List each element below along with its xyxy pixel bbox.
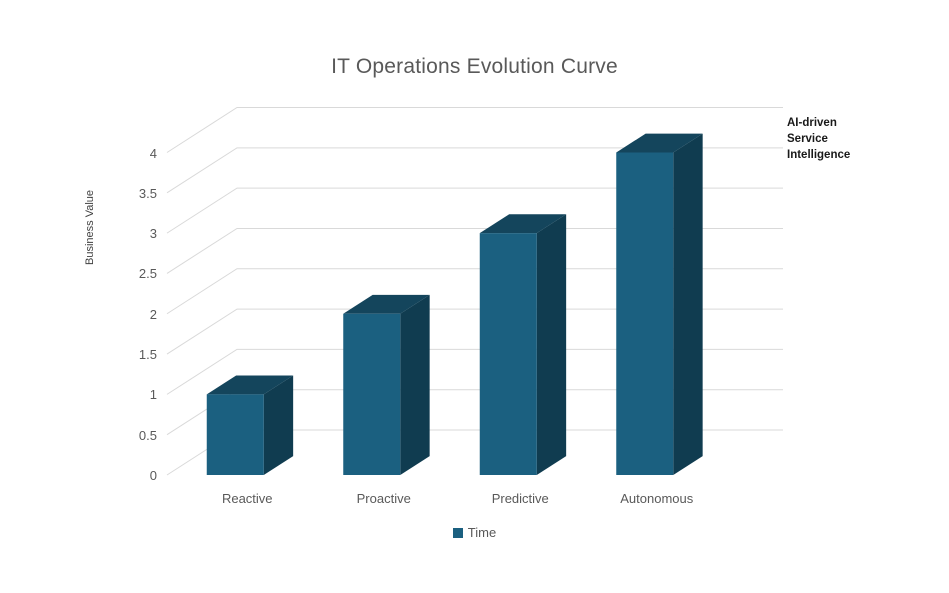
chart-container: IT Operations Evolution Curve Business V… bbox=[0, 0, 949, 593]
bar-front-face bbox=[616, 153, 673, 476]
y-axis-tick-label: 1 bbox=[109, 388, 157, 401]
y-axis-tick-label: 0 bbox=[109, 469, 157, 482]
legend-swatch-time bbox=[453, 528, 463, 538]
annotation-line-1: AI-driven bbox=[787, 115, 937, 131]
bar-front-face bbox=[207, 394, 264, 475]
bar-proactive[interactable] bbox=[343, 295, 429, 475]
legend-label-time: Time bbox=[468, 525, 496, 540]
bar-autonomous[interactable] bbox=[616, 134, 702, 475]
annotation-ai-driven-service-intelligence: AI-driven Service Intelligence bbox=[787, 115, 937, 163]
bar-side-face bbox=[673, 134, 702, 475]
bar-reactive[interactable] bbox=[207, 375, 293, 475]
bar-side-face bbox=[400, 295, 429, 475]
y-axis-tick-label: 0.5 bbox=[109, 429, 157, 442]
chart-title: IT Operations Evolution Curve bbox=[0, 55, 949, 79]
y-axis-tick-label: 2 bbox=[109, 308, 157, 321]
annotation-line-2: Service bbox=[787, 131, 937, 147]
x-axis-tick-label: Reactive bbox=[177, 492, 317, 505]
y-axis-title: Business Value bbox=[84, 241, 96, 265]
y-axis-tick-label: 2.5 bbox=[109, 267, 157, 280]
annotation-line-3: Intelligence bbox=[787, 147, 937, 163]
x-axis-tick-label: Proactive bbox=[314, 492, 454, 505]
y-axis-tick-label: 3.5 bbox=[109, 187, 157, 200]
y-axis-tick-label: 1.5 bbox=[109, 348, 157, 361]
bar-front-face bbox=[480, 233, 537, 475]
bar-side-face bbox=[537, 214, 566, 475]
x-axis-tick-label: Autonomous bbox=[587, 492, 727, 505]
y-axis-tick-label: 4 bbox=[109, 147, 157, 160]
chart-legend: Time bbox=[0, 525, 949, 540]
x-axis-tick-label: Predictive bbox=[450, 492, 590, 505]
bar-front-face bbox=[343, 314, 400, 475]
bar-predictive[interactable] bbox=[480, 214, 566, 475]
y-axis-tick-label: 3 bbox=[109, 227, 157, 240]
